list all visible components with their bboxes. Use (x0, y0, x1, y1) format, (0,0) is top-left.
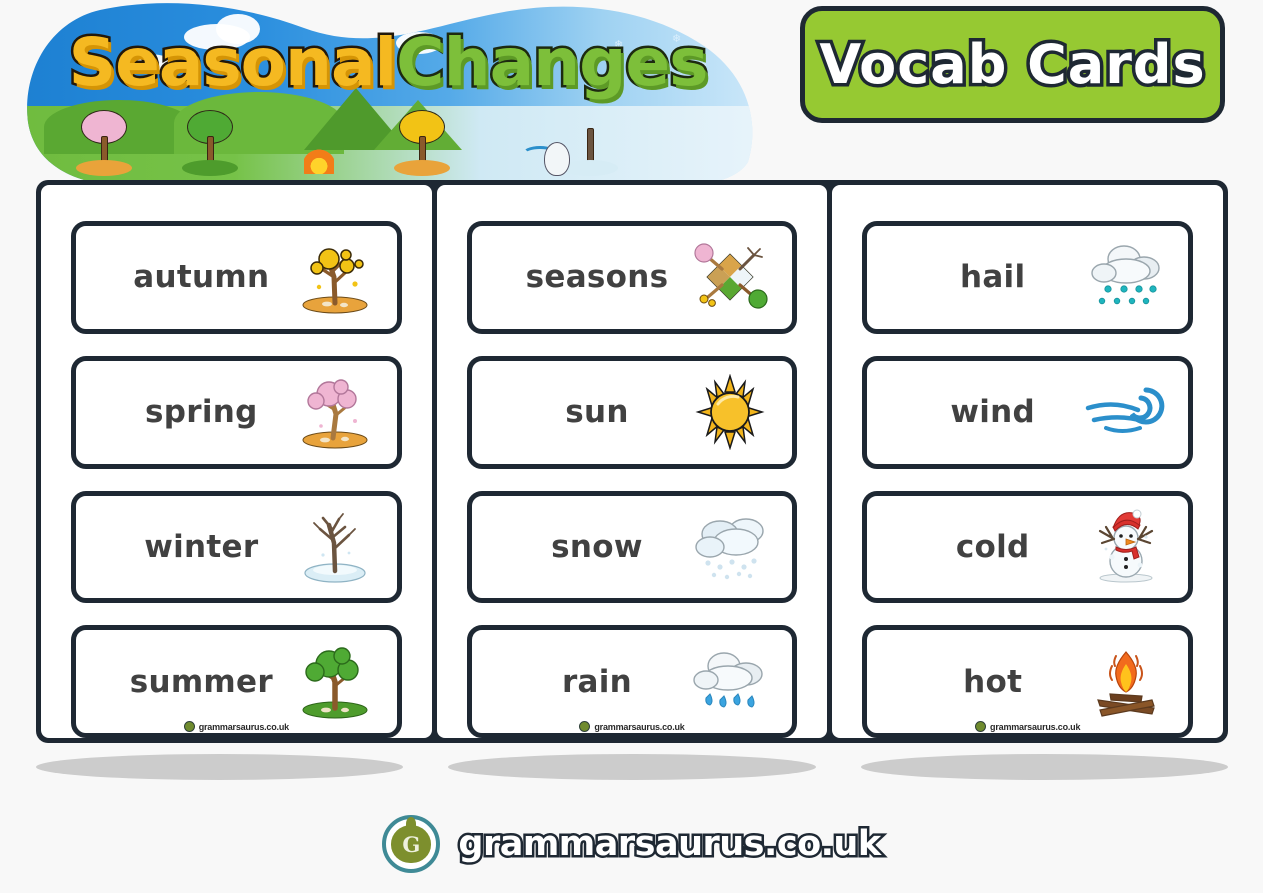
vocab-card[interactable]: sun (467, 356, 798, 469)
grammarsaurus-logo-icon (975, 721, 986, 732)
wind-swirl-icon (1080, 374, 1172, 450)
vocab-cards-label: Vocab Cards (819, 33, 1205, 96)
page-footer: grammarsaurus.co.uk (832, 721, 1223, 732)
vocab-card[interactable]: hail (862, 221, 1193, 334)
vocab-card[interactable]: autumn (71, 221, 402, 334)
title-part-changes: Changes (396, 24, 707, 101)
four-seasons-tree-icon (684, 239, 776, 315)
vocab-cards-badge: Vocab Cards (800, 6, 1225, 123)
autumn-tree-icon (289, 239, 381, 315)
grammarsaurus-logo-icon: G (382, 815, 440, 873)
page-2: seasons (437, 185, 828, 738)
page-shadow (861, 754, 1228, 780)
header: ❄ ❄ ❄ ❄ ❄ (0, 0, 1263, 182)
page-3: hail (832, 185, 1223, 738)
page-shadows (36, 748, 1228, 788)
dinosaur-head-shape: G (391, 825, 431, 863)
brand-url: grammarsaurus.co.uk (458, 824, 880, 864)
blossom-tree-icon (289, 374, 381, 450)
page-shadow (36, 754, 403, 780)
page-footer-text: grammarsaurus.co.uk (594, 722, 684, 732)
vocab-card[interactable]: snow (467, 491, 798, 604)
sun-icon (684, 374, 776, 450)
green-tree-icon (289, 644, 381, 720)
title-banner: ❄ ❄ ❄ ❄ ❄ (4, 2, 772, 184)
vocab-card[interactable]: seasons (467, 221, 798, 334)
grammarsaurus-logo-icon (579, 721, 590, 732)
page-footer-text: grammarsaurus.co.uk (199, 722, 289, 732)
vocab-card[interactable]: wind (862, 356, 1193, 469)
hail-cloud-icon (1080, 239, 1172, 315)
campfire-icon (304, 148, 334, 174)
page-shadow (448, 754, 815, 780)
bare-tree-icon (289, 509, 381, 585)
rain-cloud-icon (684, 644, 776, 720)
page-footer-text: grammarsaurus.co.uk (990, 722, 1080, 732)
campfire-icon (1080, 644, 1172, 720)
vocab-card[interactable]: winter (71, 491, 402, 604)
title-part-seasonal: Seasonal (69, 24, 397, 101)
grammarsaurus-logo-icon (184, 721, 195, 732)
logo-letter: G (402, 834, 420, 855)
vocab-card[interactable]: cold (862, 491, 1193, 604)
page-footer: grammarsaurus.co.uk (437, 721, 828, 732)
snow-cloud-icon (684, 509, 776, 585)
page-footer: grammarsaurus.co.uk (41, 721, 432, 732)
brand-footer: G grammarsaurus.co.uk (0, 815, 1263, 873)
page-title: SeasonalChanges (4, 30, 772, 96)
page-1: autumn spring (41, 185, 432, 738)
snowman-icon (544, 142, 570, 176)
vocab-card[interactable]: spring (71, 356, 402, 469)
worksheet-pages: autumn spring (36, 180, 1228, 743)
snowman-icon (1080, 509, 1172, 585)
